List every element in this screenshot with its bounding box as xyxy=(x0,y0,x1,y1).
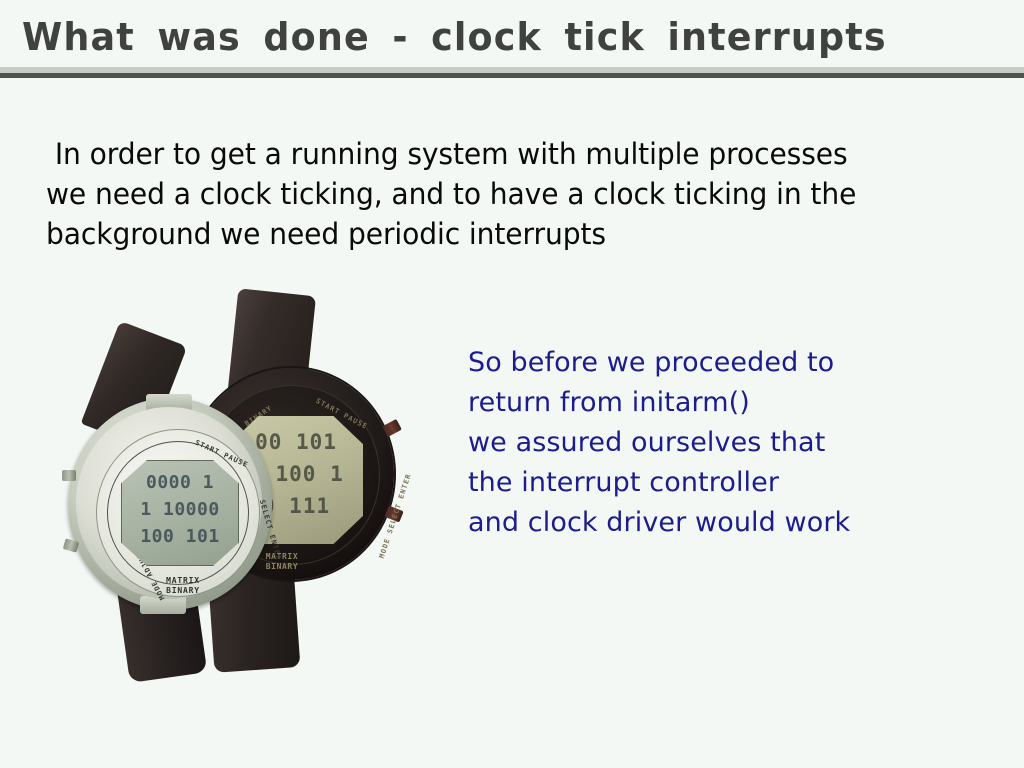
silver-watch-brand: MATRIX BINARY xyxy=(143,576,223,596)
silver-watch-lcd-row: 100 101 xyxy=(122,523,238,550)
body-line: In order to get a running system with mu… xyxy=(46,134,929,174)
silver-watch-pusher-lower xyxy=(63,538,79,552)
silver-watch-pusher-upper xyxy=(62,470,76,481)
black-watch-pusher-upper xyxy=(382,419,402,437)
silver-watch-lcd: 0000 1 1 10000 100 101 xyxy=(121,460,239,566)
page-title: What was done - clock tick interrupts xyxy=(22,14,963,60)
note-paragraph: So before we proceeded to return from in… xyxy=(468,343,938,543)
title-divider xyxy=(0,67,1024,78)
note-line: and clock driver would work xyxy=(468,503,938,543)
note-line: So before we proceeded to xyxy=(468,343,938,383)
note-line: the interrupt controller xyxy=(468,463,938,503)
photo-canvas: START PAUSE MODE SELECT ENTER BINARY 00 … xyxy=(60,290,390,670)
note-line: we assured ourselves that xyxy=(468,423,938,463)
silver-watch-case: START PAUSE BINARY SELECT ENTER MODE ADJ… xyxy=(76,407,262,599)
silver-watch-brand-line: BINARY xyxy=(143,586,223,596)
silver-binary-watch: START PAUSE BINARY SELECT ENTER MODE ADJ… xyxy=(68,398,272,610)
black-watch-bezel-label: MODE SELECT ENTER xyxy=(378,473,413,560)
divider-dark-band xyxy=(0,73,1024,78)
body-paragraph: In order to get a running system with mu… xyxy=(46,134,929,254)
slide: What was done - clock tick interrupts In… xyxy=(0,0,1024,768)
silver-watch-lcd-row: 0000 1 xyxy=(122,469,238,496)
note-line: return from initarm() xyxy=(468,383,938,423)
binary-watches-image: START PAUSE MODE SELECT ENTER BINARY 00 … xyxy=(60,290,390,670)
body-line: background we need periodic interrupts xyxy=(46,214,929,254)
body-line: we need a clock ticking, and to have a c… xyxy=(46,174,929,214)
silver-watch-brand-line: MATRIX xyxy=(143,576,223,586)
silver-watch-lcd-row: 1 10000 xyxy=(122,496,238,523)
silver-watch-dial: START PAUSE BINARY SELECT ENTER MODE ADJ… xyxy=(96,429,260,597)
